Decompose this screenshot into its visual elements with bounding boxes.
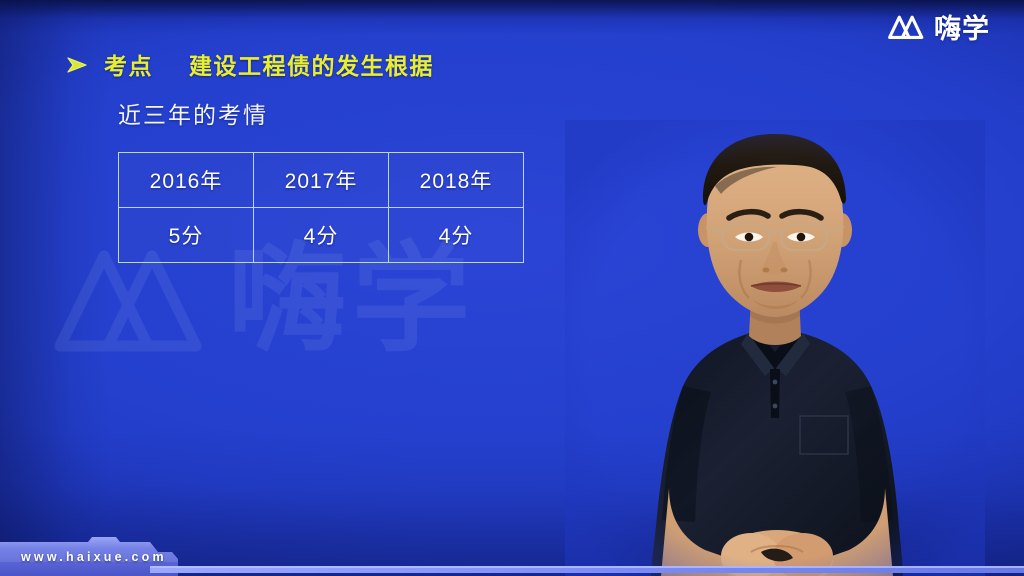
table-row-years: 2016年 2017年 2018年 [119, 153, 524, 208]
table-cell-score-3: 4分 [389, 208, 524, 263]
footer-url[interactable]: www.haixue.com [21, 551, 167, 564]
slide-heading: 考点 建设工程债的发生根据 [66, 53, 434, 80]
brand-logo-text: 嗨学 [934, 16, 990, 43]
table-cell-score-2: 4分 [254, 208, 389, 263]
table-cell-score-1: 5分 [119, 208, 254, 263]
video-frame: 嗨学 考点 建设工程债的发生根据 近三年的考情 2016年 2017年 2018… [0, 0, 1024, 576]
table-cell-year-2: 2017年 [254, 153, 389, 208]
heading-title: 建设工程债的发生根据 [189, 55, 434, 78]
slide-content: 考点 建设工程债的发生根据 近三年的考情 2016年 2017年 2018年 5… [0, 0, 1024, 576]
table-cell-year-1: 2016年 [119, 153, 254, 208]
heading-label: 考点 [104, 55, 153, 78]
mountain-peaks-icon [887, 13, 925, 45]
table-cell-year-3: 2018年 [389, 153, 524, 208]
exam-score-table: 2016年 2017年 2018年 5分 4分 4分 [118, 152, 524, 263]
arrowhead-right-icon [66, 55, 88, 80]
slide-subheading: 近三年的考情 [118, 104, 268, 127]
table-row-scores: 5分 4分 4分 [119, 208, 524, 263]
brand-logo: 嗨学 [887, 13, 990, 45]
